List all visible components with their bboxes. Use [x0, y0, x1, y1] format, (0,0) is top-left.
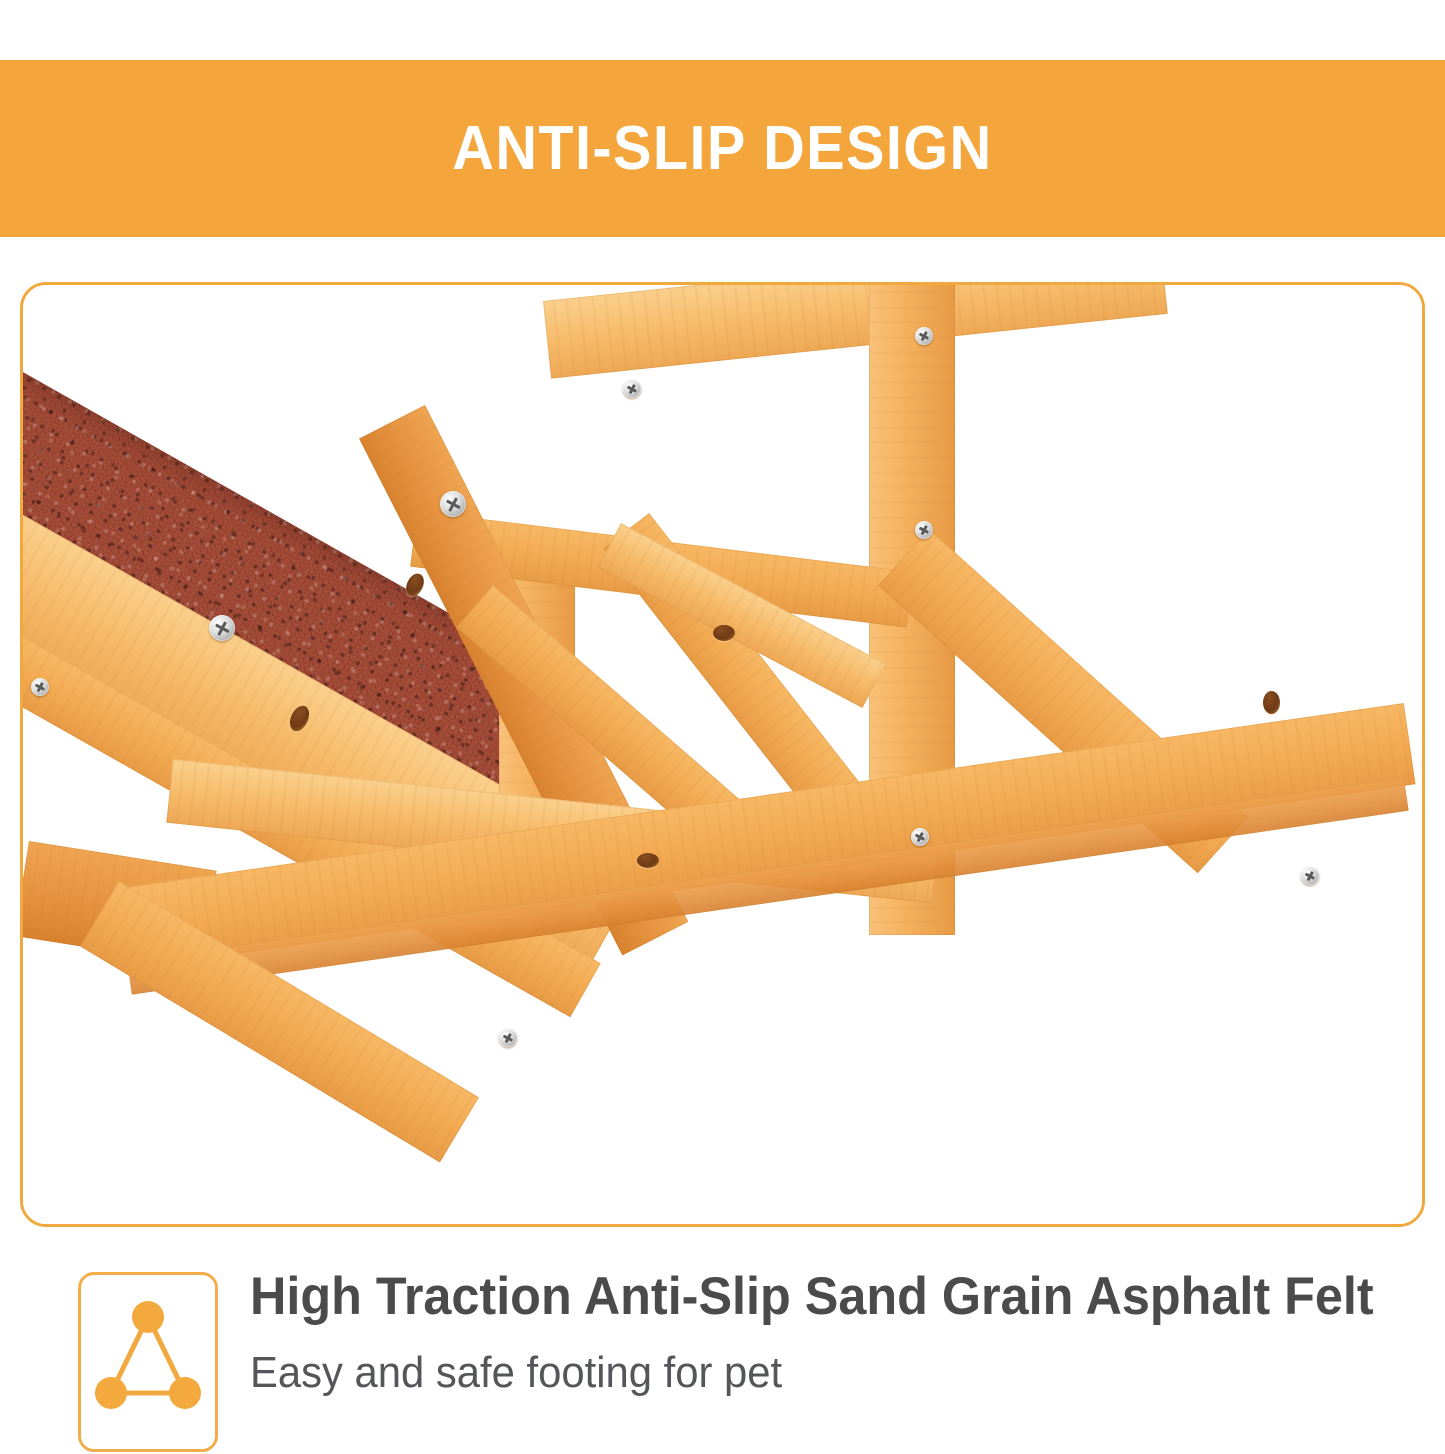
predrilled-hole: [637, 853, 659, 868]
screw: [915, 327, 933, 345]
screw: [499, 1029, 517, 1047]
screw: [440, 491, 466, 517]
predrilled-hole: [1263, 691, 1280, 714]
screw: [623, 380, 641, 398]
product-photo: [23, 285, 1422, 1224]
header-banner: ANTI-SLIP DESIGN: [0, 60, 1445, 237]
feature-icon-container: [78, 1272, 218, 1452]
predrilled-hole: [713, 625, 735, 641]
screw: [1301, 867, 1319, 885]
screw: [915, 521, 933, 539]
feature-text-group: High Traction Anti-Slip Sand Grain Aspha…: [250, 1267, 1410, 1398]
product-photo-frame: [20, 282, 1425, 1227]
feature-block: High Traction Anti-Slip Sand Grain Aspha…: [0, 1255, 1445, 1445]
screw: [209, 615, 235, 641]
top-cross-beam: [543, 282, 1168, 379]
feature-title: High Traction Anti-Slip Sand Grain Aspha…: [250, 1267, 1352, 1326]
feature-subtitle: Easy and safe footing for pet: [250, 1348, 1352, 1397]
screw: [911, 828, 929, 846]
triangle-nodes-icon: [81, 1275, 215, 1449]
banner-title: ANTI-SLIP DESIGN: [452, 113, 992, 184]
screw: [31, 678, 49, 696]
